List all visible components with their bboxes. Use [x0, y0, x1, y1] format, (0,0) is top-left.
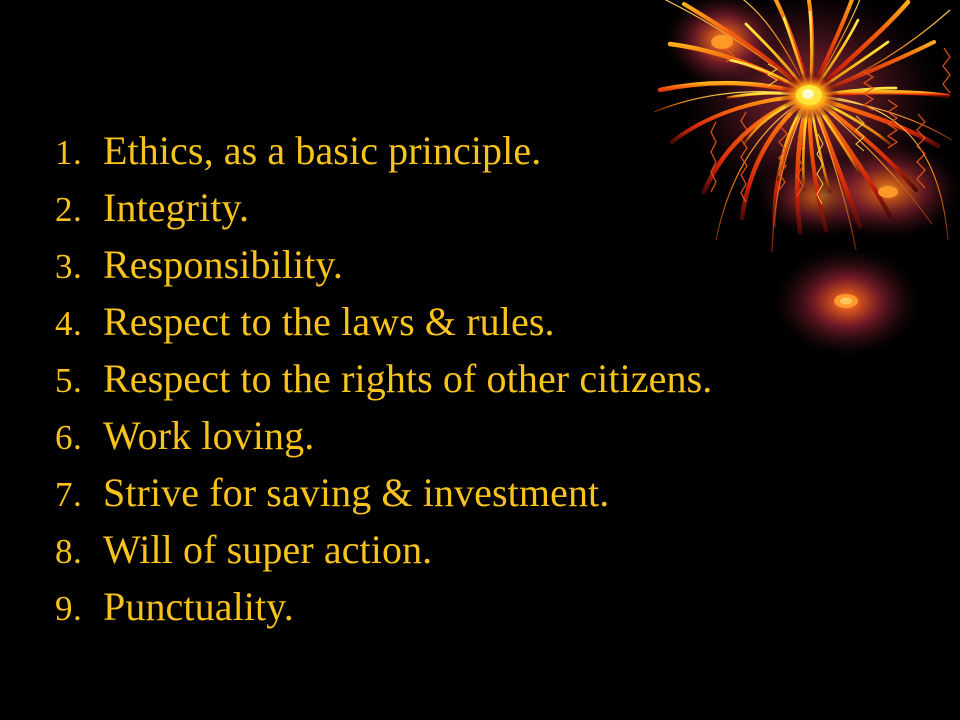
list-item-label: Ethics, as a basic principle.	[103, 122, 541, 179]
list-item-label: Respect to the rights of other citizens.	[103, 350, 712, 407]
list-item-number: 1.	[55, 124, 103, 181]
list-item: 3. Responsibility.	[55, 236, 915, 293]
list-item-number: 3.	[55, 238, 103, 295]
list-item-label: Work loving.	[103, 407, 314, 464]
list-item: 7. Strive for saving & investment.	[55, 464, 915, 521]
list-item: 5. Respect to the rights of other citize…	[55, 350, 915, 407]
list-item-number: 6.	[55, 409, 103, 466]
list-item: 9. Punctuality.	[55, 578, 915, 635]
list-item: 1. Ethics, as a basic principle.	[55, 122, 915, 179]
numbered-list: 1. Ethics, as a basic principle. 2. Inte…	[55, 122, 915, 635]
slide-canvas: 1. Ethics, as a basic principle. 2. Inte…	[0, 0, 960, 720]
list-item-label: Responsibility.	[103, 236, 343, 293]
list-item-label: Strive for saving & investment.	[103, 464, 609, 521]
list-item-number: 5.	[55, 352, 103, 409]
list-item-number: 7.	[55, 466, 103, 523]
list-item-number: 8.	[55, 523, 103, 580]
list-item: 2. Integrity.	[55, 179, 915, 236]
list-item-label: Respect to the laws & rules.	[103, 293, 555, 350]
list-item: 6. Work loving.	[55, 407, 915, 464]
list-item: 8. Will of super action.	[55, 521, 915, 578]
list-item-number: 4.	[55, 295, 103, 352]
list-item-label: Punctuality.	[103, 578, 294, 635]
list-item-label: Will of super action.	[103, 521, 432, 578]
list-item-number: 9.	[55, 580, 103, 637]
list-item: 4. Respect to the laws & rules.	[55, 293, 915, 350]
list-item-number: 2.	[55, 181, 103, 238]
list-item-label: Integrity.	[103, 179, 249, 236]
